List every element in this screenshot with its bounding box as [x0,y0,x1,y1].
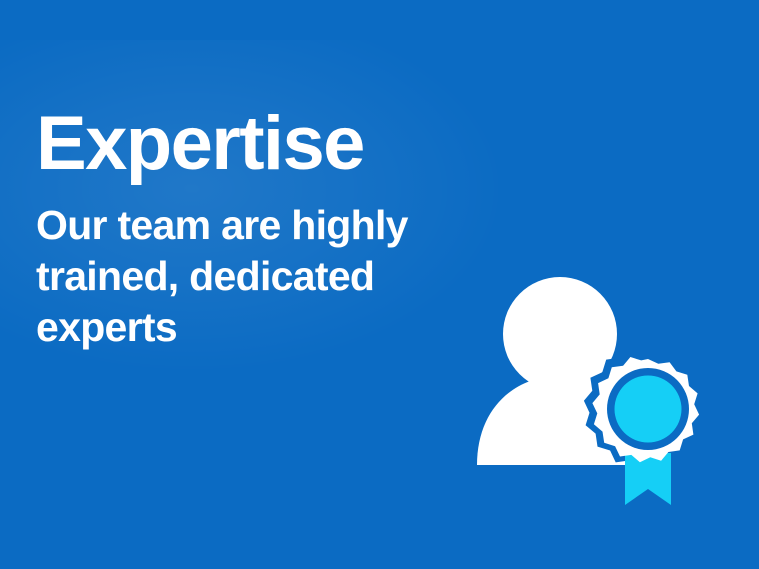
slide-canvas: Expertise Our team are highly trained, d… [0,0,759,569]
badge-center [615,376,682,443]
page-title: Expertise [36,104,506,184]
text-content-block: Expertise Our team are highly trained, d… [36,104,506,353]
subtitle: Our team are highly trained, dedicated e… [36,184,506,353]
expertise-icon-svg [455,255,720,525]
person-with-award-badge-icon [455,255,720,525]
subtitle-line-2: trained, dedicated [36,251,506,302]
subtitle-line-1: Our team are highly [36,200,506,251]
person-head [503,277,617,391]
subtitle-line-3: experts [36,302,506,353]
ribbon-tail-icon [625,453,671,505]
